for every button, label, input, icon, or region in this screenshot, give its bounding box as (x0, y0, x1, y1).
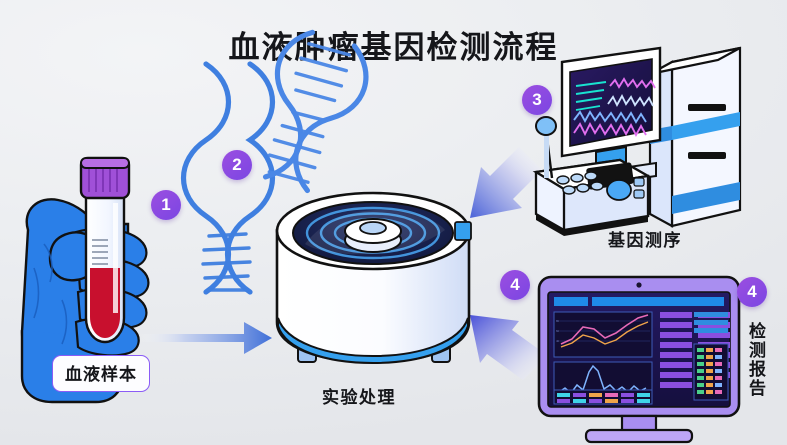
svg-text:40: 40 (556, 339, 560, 343)
arrow-sequencer-to-lab-icon (470, 147, 542, 218)
arrow-sample-to-lab-icon (138, 322, 272, 354)
step-badge-2[interactable]: 2 (222, 150, 252, 180)
step-badge-4-report[interactable]: 4 (737, 277, 767, 307)
caption-lab-processing: 实验处理 (322, 383, 396, 408)
svg-text:80: 80 (556, 319, 560, 323)
dna-double-helix-icon (184, 64, 273, 292)
caption-blood-sample: 血液样本 (52, 355, 150, 392)
caption-gene-sequencing: 基因测序 (608, 226, 682, 251)
caption-test-report: 检测报告 (742, 322, 764, 398)
centrifuge-icon (277, 193, 471, 363)
infographic-canvas: 血液肿瘤基因检测流程 (0, 0, 787, 445)
step-badge-1[interactable]: 1 (151, 190, 181, 220)
dna-sequencer-icon (536, 48, 740, 236)
step-badge-3[interactable]: 3 (522, 85, 552, 115)
blood-test-tube-icon (81, 158, 129, 342)
page-title: 血液肿瘤基因检测流程 (0, 22, 787, 67)
svg-text:60: 60 (556, 329, 560, 333)
step-badge-4[interactable]: 4 (500, 270, 530, 300)
arrow-report-to-lab-icon (470, 315, 548, 380)
report-monitor-icon: 8060 40 (539, 277, 739, 442)
